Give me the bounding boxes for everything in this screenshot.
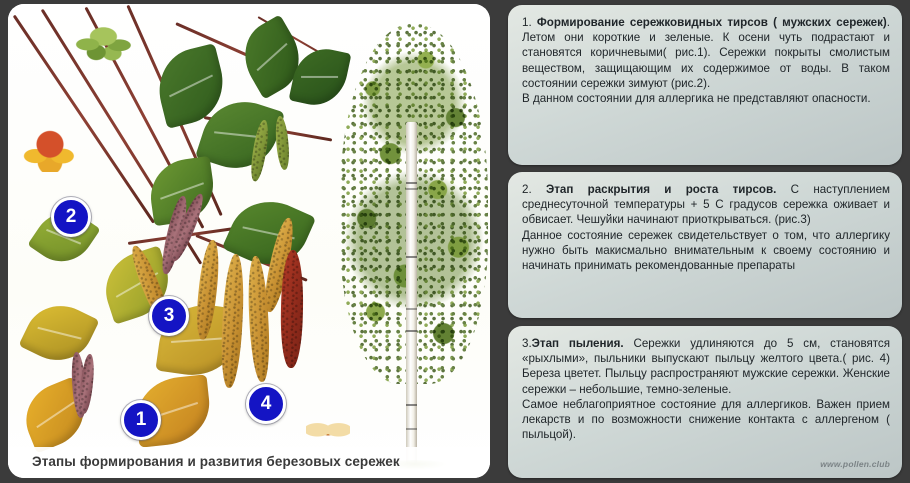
badge-marker-1[interactable]: 1 bbox=[121, 400, 161, 440]
badge-marker-3[interactable]: 3 bbox=[149, 296, 189, 336]
badge-marker-2[interactable]: 2 bbox=[51, 197, 91, 237]
illustration-caption: Этапы формирования и развития березовых … bbox=[8, 447, 490, 478]
tree-trunk bbox=[406, 122, 417, 464]
panel-1-body2: В данном состоянии для аллергика не пред… bbox=[522, 91, 890, 106]
panel-2-paragraph: 2. Этап раскрытия и роста тирсов. С наст… bbox=[522, 182, 890, 228]
panel-3-body2: Самое неблагоприятное состояние для алле… bbox=[522, 397, 890, 443]
birch-tree-illustration bbox=[338, 12, 490, 472]
badge-marker-4[interactable]: 4 bbox=[246, 384, 286, 424]
info-panel-column: 1. Формирование сережковидных тирсов ( м… bbox=[500, 0, 910, 483]
panel-1-paragraph: 1. Формирование сережковидных тирсов ( м… bbox=[522, 15, 890, 91]
panel-3-heading: Этап пыления. bbox=[532, 337, 624, 350]
illustration-canvas: 1 2 3 4 Этапы формирования и развития бе… bbox=[8, 4, 490, 478]
info-panel-1: 1. Формирование сережковидных тирсов ( м… bbox=[508, 5, 902, 165]
birch-bud-cluster bbox=[66, 18, 138, 62]
panel-1-heading: Формирование сережковидных тирсов ( мужс… bbox=[537, 16, 887, 29]
panel-2-heading: Этап раскрытия и роста тирсов. bbox=[546, 183, 776, 196]
panel-1-number: 1. bbox=[522, 16, 537, 29]
watermark: www.pollen.club bbox=[820, 457, 890, 472]
info-panel-3: 3.Этап пыления. Сережки удлиняются до 5 … bbox=[508, 326, 902, 478]
illustration-panel: 1 2 3 4 Этапы формирования и развития бе… bbox=[8, 4, 490, 478]
catkin-mature-red bbox=[280, 250, 304, 368]
catkin-stage-4 bbox=[219, 253, 246, 388]
birch-flower-detail bbox=[22, 130, 78, 172]
panel-3-paragraph: 3.Этап пыления. Сережки удлиняются до 5 … bbox=[522, 336, 890, 397]
info-panel-2: 2. Этап раскрытия и роста тирсов. С наст… bbox=[508, 172, 902, 318]
panel-2-body2: Данное состояние сережек свидетельствует… bbox=[522, 228, 890, 274]
panel-3-number: 3. bbox=[522, 337, 532, 350]
panel-2-number: 2. bbox=[522, 183, 546, 196]
catkin-stage-1 bbox=[274, 115, 291, 170]
